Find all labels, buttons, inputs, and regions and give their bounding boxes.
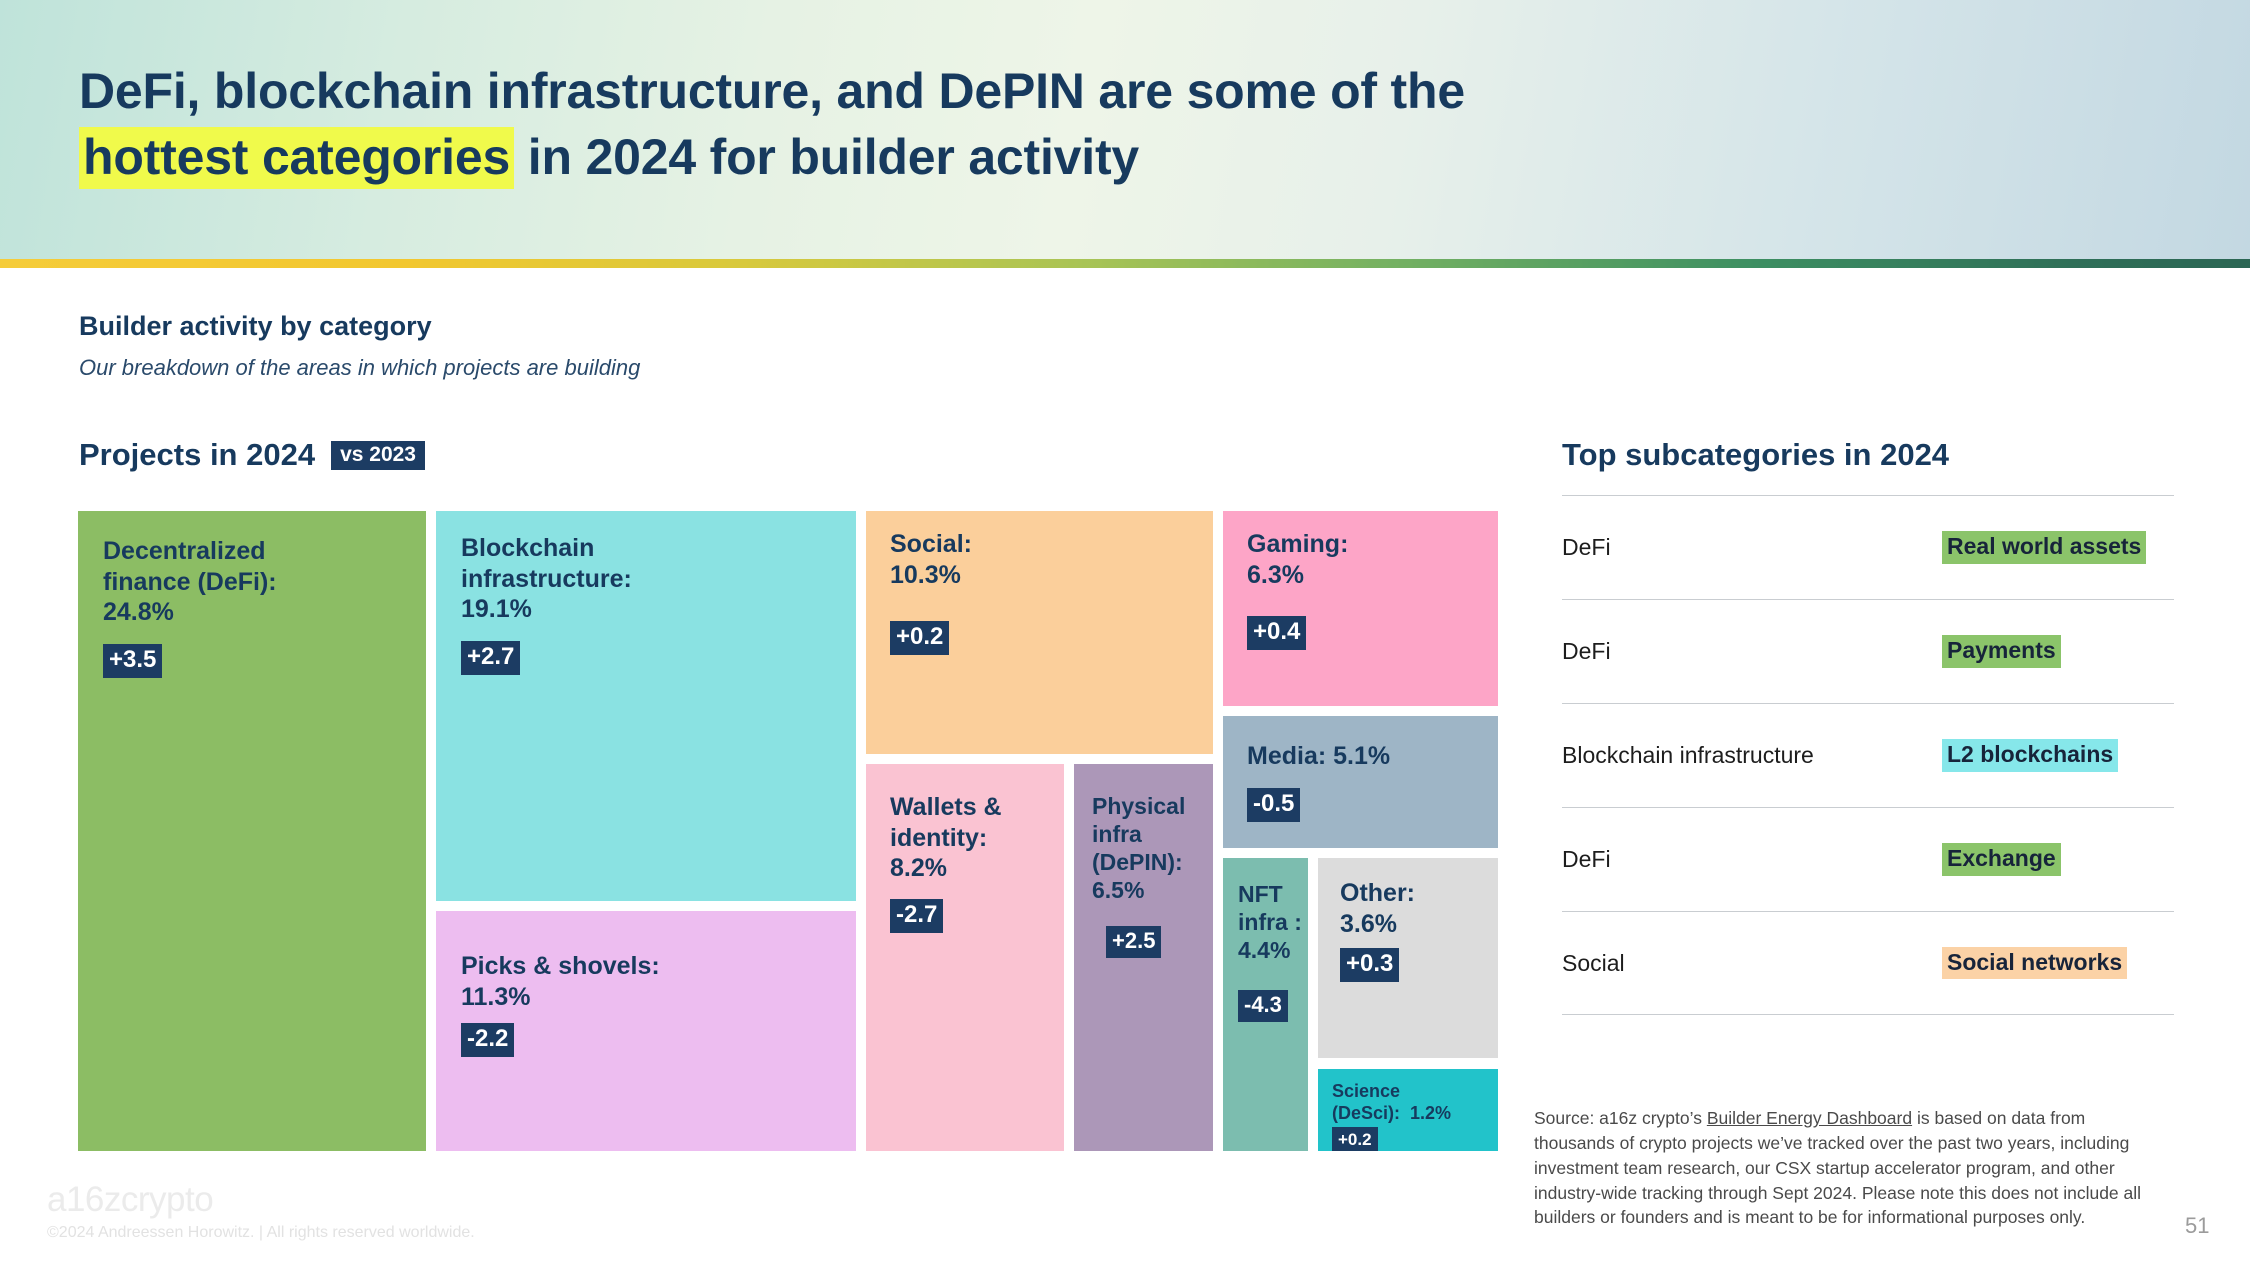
chart-comparison-badge: vs 2023 [331,441,425,470]
page-title-line1: DeFi, blockchain infrastructure, and DeP… [79,63,1465,119]
treemap-tile-label: Blockchaininfrastructure:19.1% [461,533,632,625]
treemap-tile-label: Picks & shovels:11.3% [461,951,660,1012]
subcategory-tag: Real world assets [1942,531,2146,563]
subcategory-category: DeFi [1562,638,1942,665]
treemap-tile-delta: -4.3 [1238,990,1288,1022]
subcategory-tag-wrap: Real world assets [1942,531,2174,563]
treemap-tile-delta: +2.5 [1106,926,1161,958]
subcategory-tag: Exchange [1942,843,2061,875]
treemap-tile-delta: -2.2 [461,1023,514,1057]
treemap-tile-picks-and-shovels[interactable]: Picks & shovels:11.3%-2.2 [436,911,856,1151]
treemap-tile-label: Media: 5.1% [1247,741,1390,772]
top-subcategories-list: DeFiReal world assetsDeFiPaymentsBlockch… [1562,495,2174,1015]
treemap-tile-label: NFTinfra :4.4% [1238,880,1302,964]
treemap-tile-gaming[interactable]: Gaming:6.3%+0.4 [1223,511,1498,706]
subcategory-tag-wrap: L2 blockchains [1942,739,2174,771]
treemap-tile-delta: -0.5 [1247,788,1300,822]
chart-heading: Projects in 2024 vs 2023 [79,437,425,473]
treemap-tile-defi[interactable]: Decentralizedfinance (DeFi):24.8%+3.5 [78,511,426,1151]
section-title: Builder activity by category [79,311,432,342]
subcategory-category: DeFi [1562,534,1942,561]
subcategory-row[interactable]: SocialSocial networks [1562,911,2174,1015]
subcategory-category: Blockchain infrastructure [1562,742,1942,769]
section-subtitle: Our breakdown of the areas in which proj… [79,355,640,381]
treemap-tile-label: Social:10.3% [890,529,972,590]
treemap-tile-label: Decentralizedfinance (DeFi):24.8% [103,536,277,628]
page-title-highlight: hottest categories [79,127,514,189]
subcategory-row[interactable]: DeFiExchange [1562,807,2174,911]
copyright-text: ©2024 Andreessen Horowitz. | All rights … [47,1224,475,1242]
subcategory-tag-wrap: Exchange [1942,843,2174,875]
treemap-tile-nft-infra[interactable]: NFTinfra :4.4%-4.3 [1223,858,1308,1151]
treemap-tile-label: Gaming:6.3% [1247,529,1348,590]
page-number: 51 [2185,1213,2209,1239]
page-title: DeFi, blockchain infrastructure, and DeP… [79,58,2079,190]
treemap-chart: Decentralizedfinance (DeFi):24.8%+3.5Blo… [78,511,1498,1151]
treemap-tile-blockchain-infrastructure[interactable]: Blockchaininfrastructure:19.1%+2.7 [436,511,856,901]
source-note: Source: a16z crypto’s Builder Energy Das… [1534,1106,2164,1230]
treemap-tile-delta: +2.7 [461,641,520,675]
page-title-rest: in 2024 for builder activity [514,129,1139,185]
treemap-tile-label: Other:3.6% [1340,878,1415,939]
subcategory-row[interactable]: Blockchain infrastructureL2 blockchains [1562,703,2174,807]
treemap-tile-label: Wallets &identity:8.2% [890,792,1002,884]
treemap-tile-label: Science(DeSci): 1.2% [1332,1081,1451,1125]
chart-heading-label: Projects in 2024 [79,437,315,473]
source-link[interactable]: Builder Energy Dashboard [1707,1108,1912,1128]
header-gradient-rule [0,259,2250,268]
subcategories-heading: Top subcategories in 2024 [1562,437,1949,473]
treemap-tile-physical-infra-depin[interactable]: Physicalinfra(DePIN):6.5%+2.5 [1074,764,1213,1151]
subcategory-category: DeFi [1562,846,1942,873]
treemap-tile-label: Physicalinfra(DePIN):6.5% [1092,792,1185,904]
a16zcrypto-logo: a16zcrypto [47,1180,213,1220]
treemap-tile-delta: +0.3 [1340,948,1399,982]
treemap-tile-delta: +0.2 [1332,1127,1378,1151]
treemap-tile-delta: +0.4 [1247,616,1306,650]
subcategory-tag: L2 blockchains [1942,739,2118,771]
subcategory-tag: Payments [1942,635,2061,667]
treemap-tile-media[interactable]: Media: 5.1%-0.5 [1223,716,1498,848]
subcategory-row[interactable]: DeFiPayments [1562,599,2174,703]
treemap-tile-delta: +3.5 [103,644,162,678]
treemap-tile-science-desci[interactable]: Science(DeSci): 1.2%+0.2 [1318,1069,1498,1151]
treemap-tile-delta: -2.7 [890,899,943,933]
source-prefix: Source: a16z crypto’s [1534,1108,1707,1128]
subcategory-tag-wrap: Payments [1942,635,2174,667]
treemap-tile-social[interactable]: Social:10.3%+0.2 [866,511,1213,754]
subcategory-tag: Social networks [1942,947,2127,979]
subcategory-category: Social [1562,950,1942,977]
treemap-tile-wallets-and-identity[interactable]: Wallets &identity:8.2%-2.7 [866,764,1064,1151]
treemap-tile-delta: +0.2 [890,621,949,655]
treemap-tile-other[interactable]: Other:3.6%+0.3 [1318,858,1498,1058]
subcategory-tag-wrap: Social networks [1942,947,2174,979]
subcategory-row[interactable]: DeFiReal world assets [1562,495,2174,599]
